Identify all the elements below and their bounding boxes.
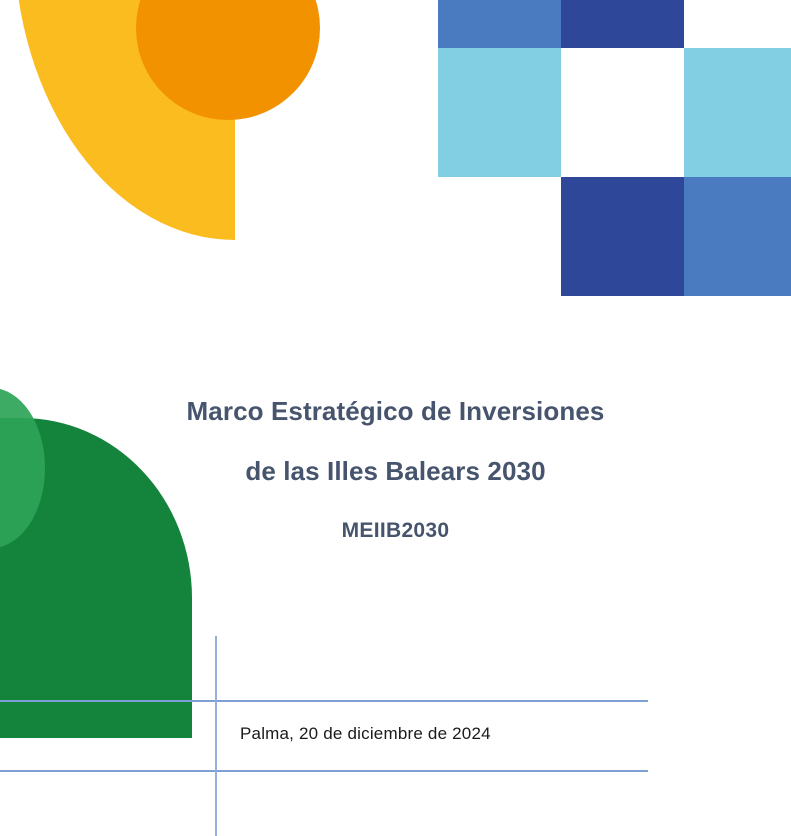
grid-cell-r1c1 — [438, 0, 561, 48]
page-title: Marco Estratégico de Inversiones de las … — [0, 398, 791, 543]
grid-cell-r3c1 — [438, 177, 561, 296]
document-cover-page: Marco Estratégico de Inversiones de las … — [0, 0, 791, 836]
blue-square-grid-decoration — [438, 0, 791, 296]
grid-cell-r3c2 — [561, 177, 684, 296]
vertical-rule — [215, 636, 217, 836]
footer-date-text: Palma, 20 de diciembre de 2024 — [240, 724, 660, 744]
grid-cell-r1c2 — [561, 0, 684, 48]
grid-cell-r3c3 — [684, 177, 791, 296]
title-line-1: Marco Estratégico de Inversiones — [0, 398, 791, 424]
grid-cell-r1c3 — [684, 0, 791, 48]
grid-cell-r2c1 — [438, 48, 561, 177]
horizontal-rule-top — [0, 700, 648, 702]
title-line-2: de las Illes Balears 2030 — [0, 458, 791, 484]
footer-date-block: Palma, 20 de diciembre de 2024 — [240, 724, 660, 744]
horizontal-rule-bottom — [0, 770, 648, 772]
title-acronym: MEIIB2030 — [0, 519, 791, 543]
grid-cell-r2c2 — [561, 48, 684, 177]
grid-cell-r2c3 — [684, 48, 791, 177]
